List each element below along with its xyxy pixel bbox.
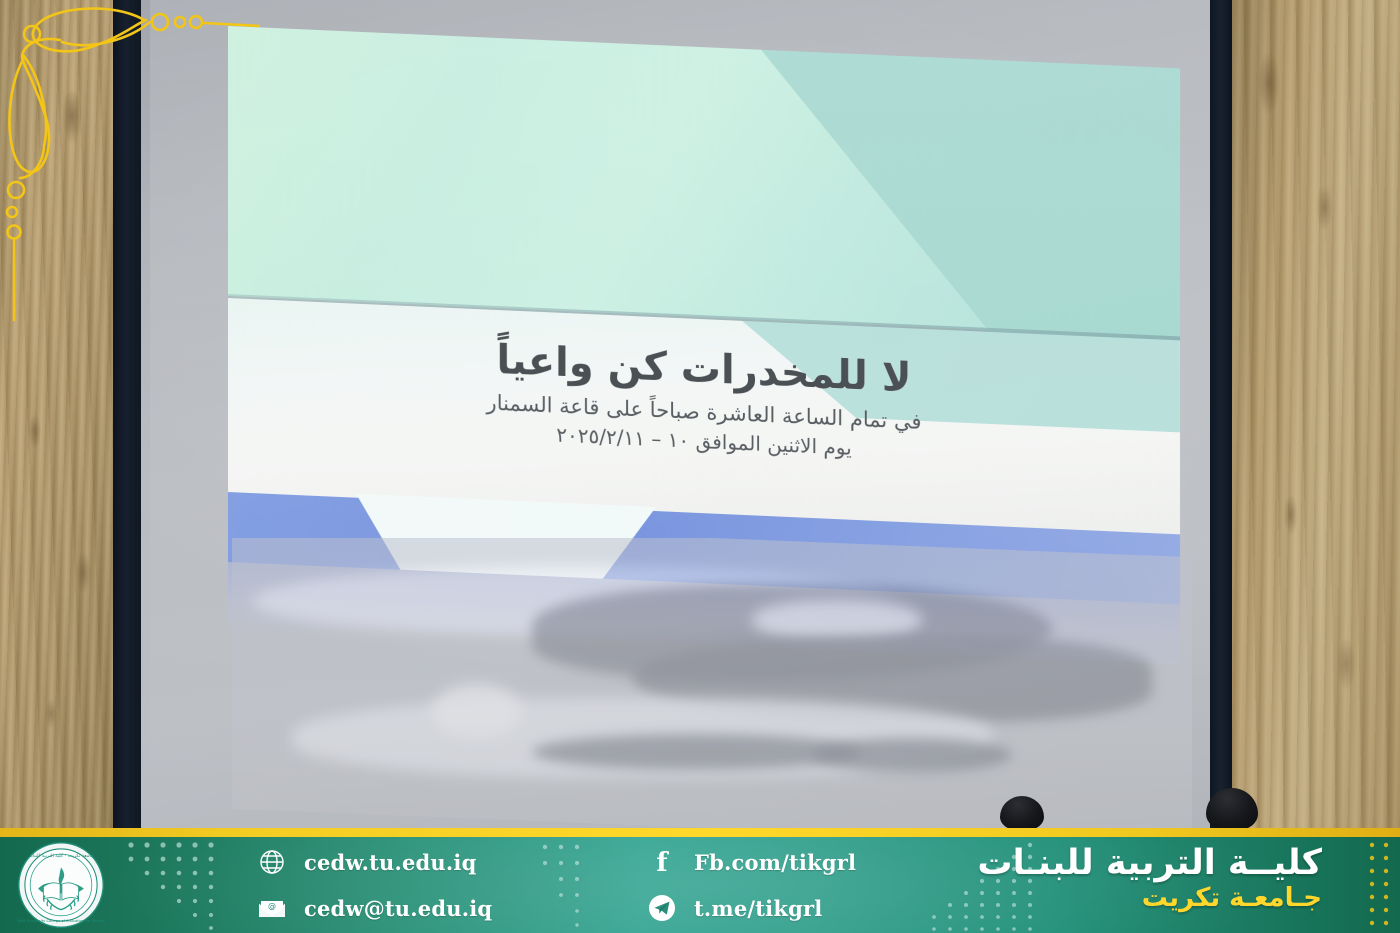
college-emblem-icon: جامعة تكريت - كلية التربية للبنات Tikrit… [17, 841, 105, 929]
dot-pattern-icon [537, 839, 585, 933]
facebook-label: Fb.com/tikgrl [694, 850, 856, 875]
university-name: جـامعـة تكريت [977, 884, 1322, 914]
college-name: كليــة التربية للبنـات [977, 844, 1322, 883]
contact-facebook[interactable]: f Fb.com/tikgrl [648, 845, 856, 879]
contact-telegram[interactable]: t.me/tikgrl [648, 891, 856, 925]
contact-group-social: f Fb.com/tikgrl t.me/tikgrl [648, 845, 856, 925]
wall-trim-right [1210, 0, 1232, 830]
email-label: cedw@tu.edu.iq [304, 896, 492, 921]
svg-text:f: f [656, 849, 669, 875]
wood-panel-right [1232, 0, 1400, 830]
telegram-label: t.me/tikgrl [694, 896, 822, 921]
lower-photo-object [432, 684, 522, 738]
svg-text:@: @ [268, 902, 276, 911]
screenshot-root: لا للمخدرات كن واعياً في تمام الساعة الع… [0, 0, 1400, 933]
emblem-english-rim: Tikrit University College of Education f… [17, 919, 105, 923]
footer-title-block: كليــة التربية للبنـات جـامعـة تكريت [977, 844, 1322, 914]
globe-icon [258, 848, 286, 876]
audience-head [1000, 796, 1044, 830]
facebook-icon: f [648, 848, 676, 876]
footer-gold-bar [0, 828, 1400, 837]
gold-flourish-ornament-icon [0, 0, 260, 470]
event-photograph: لا للمخدرات كن واعياً في تمام الساعة الع… [0, 0, 1400, 830]
contact-group-web: cedw.tu.edu.iq @ cedw@tu.edu.iq [258, 845, 492, 925]
emblem-arabic-rim: جامعة تكريت - كلية التربية للبنات [28, 853, 93, 859]
avatar: جامعة تكريت - كلية التربية للبنات Tikrit… [17, 841, 105, 929]
telegram-icon [648, 894, 676, 922]
dot-pattern-icon [125, 839, 275, 933]
lower-photo-shadow [812, 738, 1012, 772]
dot-pattern-gold-icon [1362, 839, 1396, 933]
envelope-icon: @ [258, 894, 286, 922]
footer-green-band: جامعة تكريت - كلية التربية للبنات Tikrit… [0, 837, 1400, 933]
slide-lower-photo [232, 538, 1192, 828]
website-label: cedw.tu.edu.iq [304, 850, 476, 875]
contact-email[interactable]: @ cedw@tu.edu.iq [258, 891, 492, 925]
page-footer: جامعة تكريت - كلية التربية للبنات Tikrit… [0, 828, 1400, 933]
lower-photo-highlight [752, 600, 922, 640]
contact-website[interactable]: cedw.tu.edu.iq [258, 845, 492, 879]
